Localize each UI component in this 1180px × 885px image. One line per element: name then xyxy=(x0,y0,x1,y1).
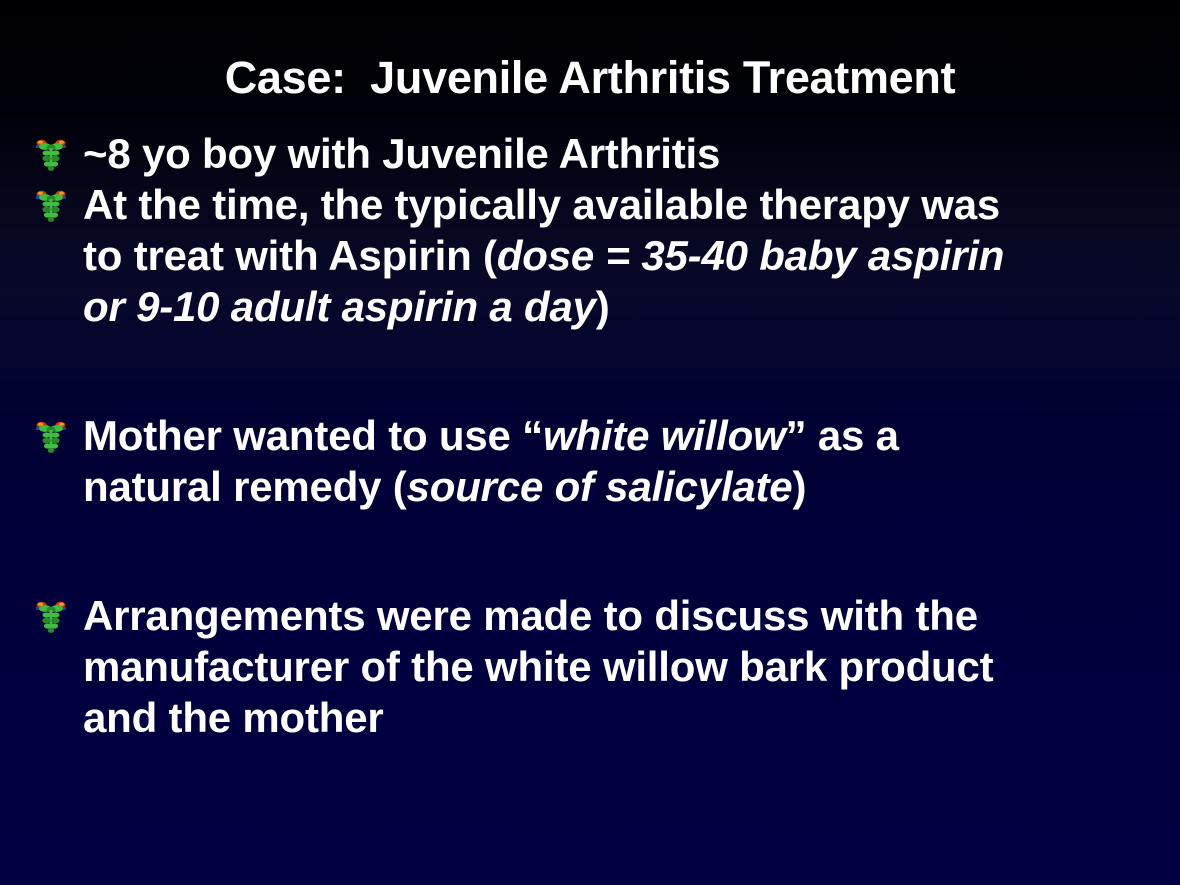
plain-text: manufacturer of the white willow bark pr… xyxy=(83,643,993,690)
bullet-line: or 9-10 adult aspirin a day) xyxy=(83,281,1158,332)
bullet-white-willow[interactable]: Mother wanted to use “white willow” as a… xyxy=(28,410,1158,512)
emphasis-text: source of salicylate xyxy=(407,463,793,510)
plain-text: ” as a xyxy=(786,412,899,459)
emphasis-text: or 9-10 adult aspirin a day xyxy=(83,283,596,330)
plain-text: natural remedy ( xyxy=(83,463,407,510)
flower-bullet-icon xyxy=(34,599,68,635)
flower-bullet-icon xyxy=(34,137,68,173)
emphasis-text: white willow xyxy=(543,412,786,459)
bullet-age[interactable]: ~8 yo boy with Juvenile Arthritis xyxy=(28,128,1158,179)
slide-body-list: ~8 yo boy with Juvenile Arthritis xyxy=(28,128,1158,743)
bullet-line: At the time, the typically available the… xyxy=(83,179,1158,230)
plain-text: ~8 yo boy with Juvenile Arthritis xyxy=(83,130,720,177)
flower-bullet-icon xyxy=(34,188,68,224)
plain-text: At the time, the typically available the… xyxy=(83,181,1000,228)
slide-title: Case: Juvenile Arthritis Treatment xyxy=(0,52,1180,104)
plain-text: and the mother xyxy=(83,694,384,741)
bullet-line: and the mother xyxy=(83,692,1158,743)
bullet-spacer xyxy=(28,332,1158,410)
bullet-spacer xyxy=(28,512,1158,590)
bullet-line: natural remedy (source of salicylate) xyxy=(83,461,1158,512)
bullet-line: to treat with Aspirin (dose = 35-40 baby… xyxy=(83,230,1158,281)
bullet-line: manufacturer of the white willow bark pr… xyxy=(83,641,1158,692)
presentation-slide: Case: Juvenile Arthritis Treatment xyxy=(0,0,1180,885)
bullet-arrangements[interactable]: Arrangements were made to discuss with t… xyxy=(28,590,1158,743)
plain-text: Arrangements were made to discuss with t… xyxy=(83,592,978,639)
plain-text: Mother wanted to use “ xyxy=(83,412,543,459)
bullet-line: Arrangements were made to discuss with t… xyxy=(83,590,1158,641)
plain-text: to treat with Aspirin ( xyxy=(83,232,497,279)
plain-text: ) xyxy=(792,463,806,510)
bullet-line: ~8 yo boy with Juvenile Arthritis xyxy=(83,128,1158,179)
emphasis-text: dose = 35-40 baby aspirin xyxy=(497,232,1004,279)
flower-bullet-icon xyxy=(34,419,68,455)
bullet-aspirin-therapy[interactable]: At the time, the typically available the… xyxy=(28,179,1158,332)
plain-text: ) xyxy=(596,283,610,330)
bullet-line: Mother wanted to use “white willow” as a xyxy=(83,410,1158,461)
